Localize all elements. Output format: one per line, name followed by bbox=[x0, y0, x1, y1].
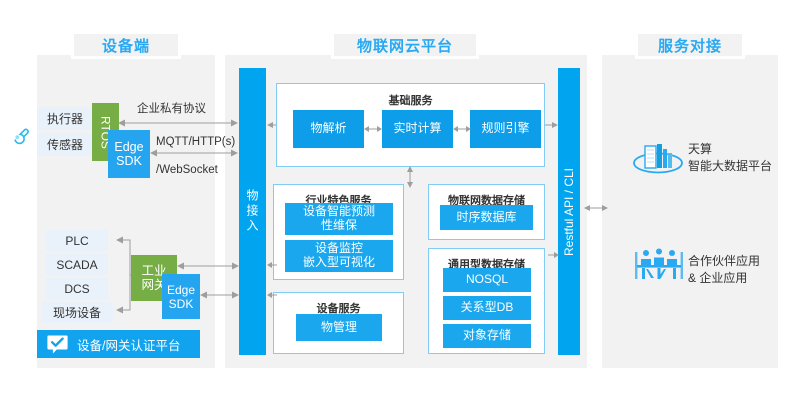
thing-access-label: 物接入 bbox=[244, 189, 261, 234]
source-plc[interactable]: PLC bbox=[46, 230, 108, 251]
service-panel-background bbox=[602, 55, 778, 368]
general-storage-item-0[interactable]: NOSQL bbox=[443, 268, 531, 292]
cloud-panel-title: 物联网云平台 bbox=[331, 31, 479, 59]
bigdata-platform-line2: 智能大数据平台 bbox=[688, 158, 798, 175]
industry-service-item-0[interactable]: 设备智能预测 性维保 bbox=[285, 203, 393, 235]
endpoint-actuator[interactable]: 执行器 bbox=[37, 107, 93, 130]
edge-sdk-top-box[interactable]: Edge SDK bbox=[108, 130, 150, 178]
service-panel-title: 服务对接 bbox=[635, 31, 745, 59]
device-auth-platform-bar[interactable]: 设备/网关认证平台 bbox=[37, 330, 200, 358]
general-storage-item-0-label: NOSQL bbox=[466, 273, 508, 287]
industry-service-item-1-label: 设备监控 嵌入型可视化 bbox=[303, 242, 375, 270]
bigdata-platform-label: 天算 智能大数据平台 bbox=[688, 141, 798, 176]
source-dcs[interactable]: DCS bbox=[46, 278, 108, 299]
iot-storage-item-0[interactable]: 时序数据库 bbox=[440, 205, 533, 230]
restful-to-service-arrow bbox=[584, 203, 608, 213]
bigdata-platform-line1: 天算 bbox=[688, 141, 798, 158]
basic-service-item-0[interactable]: 物解析 bbox=[293, 110, 364, 148]
endpoint-sensor-label: 传感器 bbox=[47, 136, 83, 153]
industry-service-item-0-label: 设备智能预测 性维保 bbox=[303, 205, 375, 233]
mqtt-protocol-label-line2: /WebSocket bbox=[156, 164, 218, 176]
endpoint-actuator-label: 执行器 bbox=[47, 110, 83, 127]
basic-service-header: 基础服务 bbox=[277, 92, 544, 108]
gateway-uplink-arrow bbox=[177, 261, 239, 271]
access-lower-arrow-2 bbox=[267, 290, 279, 300]
basic-service-item-2[interactable]: 规则引擎 bbox=[470, 110, 541, 148]
source-field-device-label: 现场设备 bbox=[53, 304, 101, 321]
partners-apps-line1: 合作伙伴应用 bbox=[688, 253, 798, 270]
access-lower-arrow-1 bbox=[267, 260, 279, 270]
iot-storage-item-0-label: 时序数据库 bbox=[456, 211, 516, 225]
edge-sdk-bottom-label: Edge SDK bbox=[167, 283, 195, 311]
private-protocol-arrow bbox=[118, 118, 238, 128]
thing-access-bar[interactable]: 物接入 bbox=[239, 68, 266, 355]
partners-apps-label: 合作伙伴应用 & 企业应用 bbox=[688, 253, 798, 288]
check-bubble-icon bbox=[47, 335, 68, 354]
basic-to-lower-arrow bbox=[405, 166, 415, 188]
device-panel-title: 设备端 bbox=[71, 31, 181, 59]
basic-items-arrow-0-1 bbox=[364, 124, 382, 134]
basic-items-arrow-1-2 bbox=[453, 124, 471, 134]
general-storage-item-2[interactable]: 对象存储 bbox=[443, 324, 531, 348]
source-field-device[interactable]: 现场设备 bbox=[41, 302, 113, 323]
sensor-tag-icon bbox=[8, 123, 34, 149]
source-scada-label: SCADA bbox=[56, 258, 97, 272]
service-panel-title-text: 服务对接 bbox=[658, 35, 722, 56]
mqtt-protocol-arrow bbox=[150, 148, 238, 158]
cloud-panel-title-text: 物联网云平台 bbox=[357, 35, 453, 56]
bigdata-cloud-icon bbox=[632, 138, 684, 178]
source-dcs-label: DCS bbox=[64, 282, 89, 296]
source-scada[interactable]: SCADA bbox=[46, 254, 108, 275]
general-storage-item-1[interactable]: 关系型DB bbox=[443, 296, 531, 320]
device-service-item-0[interactable]: 物管理 bbox=[296, 314, 382, 341]
partners-meeting-icon bbox=[633, 248, 685, 280]
device-auth-platform-label: 设备/网关认证平台 bbox=[77, 335, 180, 354]
general-storage-item-2-label: 对象存储 bbox=[463, 329, 511, 343]
industry-service-item-1[interactable]: 设备监控 嵌入型可视化 bbox=[285, 240, 393, 272]
mqtt-protocol-label-line1: MQTT/HTTP(s) bbox=[156, 136, 235, 148]
source-plc-label: PLC bbox=[65, 234, 88, 248]
basic-service-item-2-label: 规则引擎 bbox=[481, 122, 529, 136]
restful-api-cli-label: Restful API / CLI bbox=[562, 167, 576, 255]
partners-apps-line2: & 企业应用 bbox=[688, 270, 798, 287]
edge-sdk-top-label: Edge SDK bbox=[114, 140, 143, 168]
device-panel-title-text: 设备端 bbox=[102, 35, 150, 56]
endpoint-sensor[interactable]: 传感器 bbox=[37, 133, 93, 156]
storage-to-restful-arrow bbox=[545, 250, 559, 260]
device-service-item-0-label: 物管理 bbox=[321, 321, 357, 335]
basic-service-item-0-label: 物解析 bbox=[310, 122, 346, 136]
restful-api-cli-bar[interactable]: Restful API / CLI bbox=[558, 68, 580, 355]
basic-service-item-1-label: 实时计算 bbox=[393, 122, 441, 136]
edge-sdk-uplink-arrow bbox=[200, 290, 239, 300]
edge-sdk-bottom-box[interactable]: Edge SDK bbox=[162, 274, 200, 319]
private-protocol-label: 企业私有协议 bbox=[137, 100, 206, 116]
basic-service-item-1[interactable]: 实时计算 bbox=[382, 110, 453, 148]
general-storage-item-1-label: 关系型DB bbox=[461, 301, 514, 315]
